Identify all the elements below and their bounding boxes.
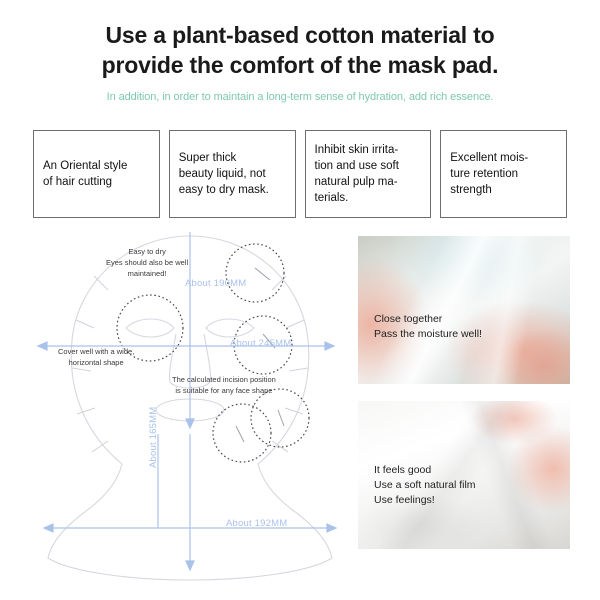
dimension-label-165: About 165MM	[148, 407, 159, 468]
main-content: About 190MM About 245MM About 192MM Abou…	[0, 228, 600, 588]
feature-box-row: An Oriental style of hair cutting Super …	[33, 130, 567, 218]
feature-line: strength	[450, 184, 492, 196]
annotation-incision: The calculated incision position is suit…	[172, 374, 276, 396]
feature-line: of hair cutting	[43, 176, 112, 188]
caption-line: Use feelings!	[374, 493, 476, 508]
feature-box: Excellent mois- ture retention strength	[440, 130, 567, 218]
dimension-label-190: About 190MM	[185, 278, 246, 289]
page-subtitle: In addition, in order to maintain a long…	[0, 91, 600, 103]
annotation-line: horizontal shape	[69, 358, 124, 367]
caption-line: It feels good	[374, 463, 476, 478]
annotation-cover: Cover well with a wide, horizontal shape	[58, 346, 134, 368]
feature-line: ture retention	[450, 168, 518, 180]
feature-line: An Oriental style	[43, 160, 127, 172]
product-infographic: Use a plant-based cotton material to pro…	[0, 0, 600, 600]
feature-line: tion and use soft	[315, 160, 399, 172]
header: Use a plant-based cotton material to pro…	[0, 20, 600, 103]
photo-translucent-mask: Close together Pass the moisture well!	[358, 236, 570, 384]
title-line-1: Use a plant-based cotton material to	[0, 20, 600, 50]
feature-line: beauty liquid, not	[179, 168, 266, 180]
photo-column: Close together Pass the moisture well! I…	[358, 236, 570, 574]
photo-cotton-sheet: It feels good Use a soft natural film Us…	[358, 401, 570, 549]
callout-tick-marks	[236, 268, 284, 442]
caption-line: Use a soft natural film	[374, 478, 476, 493]
feature-line: Excellent mois-	[450, 152, 528, 164]
feature-box: Inhibit skin irrita- tion and use soft n…	[305, 130, 432, 218]
eye-cutout-left	[126, 319, 174, 337]
page-title: Use a plant-based cotton material to pro…	[0, 20, 600, 80]
feature-line: Inhibit skin irrita-	[315, 144, 399, 156]
caption-line: Close together	[374, 312, 482, 327]
dimension-label-192: About 192MM	[226, 518, 287, 529]
annotation-line: Eyes should also be well	[106, 258, 188, 267]
feature-line: natural pulp ma-	[315, 176, 398, 188]
feature-line: Super thick	[179, 152, 237, 164]
mask-technical-drawing: About 190MM About 245MM About 192MM Abou…	[30, 228, 350, 586]
dimension-label-245: About 245MM	[230, 338, 291, 349]
annotation-line: Cover well with a wide,	[58, 347, 134, 356]
caption-line: Pass the moisture well!	[374, 327, 482, 342]
feature-box: An Oriental style of hair cutting	[33, 130, 160, 218]
annotation-line: is suitable for any face shape	[175, 386, 272, 395]
annotation-line: maintained!	[128, 269, 167, 278]
photo-caption: It feels good Use a soft natural film Us…	[374, 463, 476, 508]
annotation-eyes: Easy to dry Eyes should also be well mai…	[106, 246, 188, 279]
annotation-line: The calculated incision position	[172, 375, 276, 384]
photo-caption: Close together Pass the moisture well!	[374, 312, 482, 342]
photo-image	[358, 236, 570, 384]
eye-cutout-right	[206, 319, 254, 337]
annotation-line: Easy to dry	[128, 247, 166, 256]
feature-box: Super thick beauty liquid, not easy to d…	[169, 130, 296, 218]
title-line-2: provide the comfort of the mask pad.	[0, 50, 600, 80]
feature-line: easy to dry mask.	[179, 184, 269, 196]
feature-line: terials.	[315, 192, 349, 204]
